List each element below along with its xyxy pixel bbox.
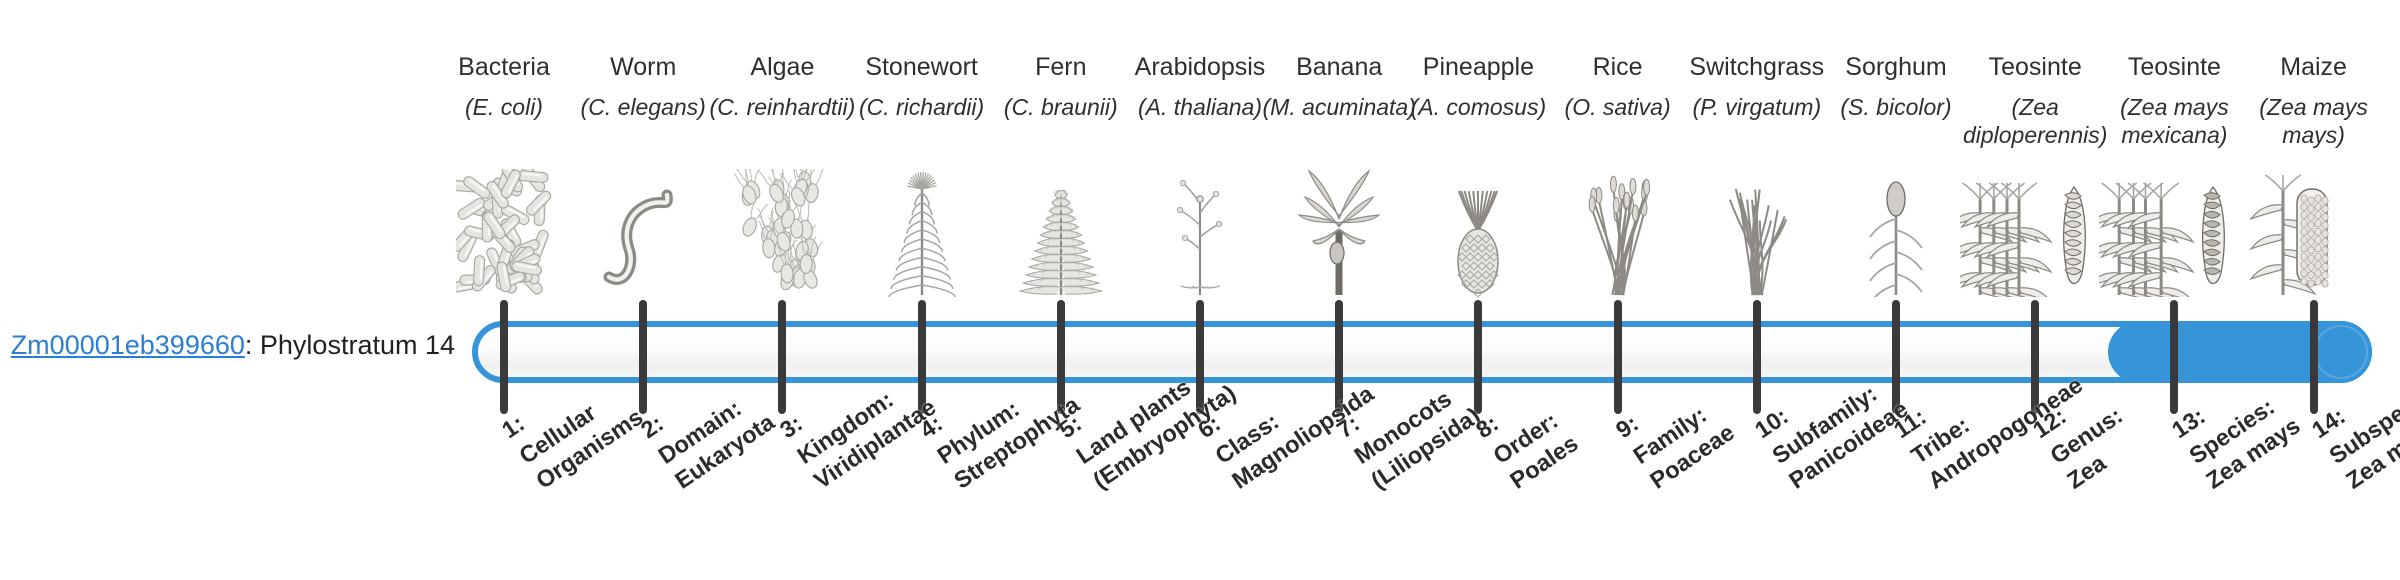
pineapple-icon	[1430, 162, 1526, 297]
stratum-tick-14[interactable]	[2310, 300, 2318, 414]
stratum-tick-1[interactable]	[500, 300, 508, 414]
gene-phylostratum-label: Zm00001eb399660: Phylostratum 14	[0, 330, 455, 361]
gene-id-link[interactable]: Zm00001eb399660	[11, 330, 245, 360]
teosinte-mex-icon	[2099, 162, 2249, 297]
species-common-name: Maize	[2226, 52, 2400, 84]
teosinte-diplo-icon	[1960, 162, 2110, 297]
switchgrass-icon	[1709, 162, 1805, 297]
gene-label-separator: :	[245, 330, 260, 360]
stratum-tick-13[interactable]	[2170, 300, 2178, 414]
sorghum-icon	[1848, 162, 1944, 297]
stratum-tick-9[interactable]	[1614, 300, 1622, 414]
stratum-label-row: 1:CellularOrganisms2:Domain:Eukaryota3:K…	[472, 420, 2372, 580]
phylostratigraphy-diagram: Bacteria(E. coli)Worm(C. elegans)Algae(C…	[0, 0, 2400, 580]
stratum-tick-2[interactable]	[639, 300, 647, 414]
species-header-14: Maize(Zea mays mays)	[2226, 52, 2400, 150]
stonewort-icon	[874, 162, 970, 297]
species-header-row: Bacteria(E. coli)Worm(C. elegans)Algae(C…	[472, 52, 2372, 162]
banana-icon	[1291, 162, 1387, 297]
bacteria-icon	[456, 162, 552, 297]
rice-icon	[1570, 162, 1666, 297]
species-latin-name: (Zea mays mays)	[2226, 93, 2400, 151]
maize-icon	[2239, 162, 2389, 297]
stratum-tick-3[interactable]	[778, 300, 786, 414]
worm-icon	[595, 162, 691, 297]
stratum-tick-10[interactable]	[1753, 300, 1761, 414]
algae-icon	[734, 162, 830, 297]
organism-illustration-row	[472, 162, 2372, 302]
fern-icon	[1013, 162, 1109, 297]
phylostratum-value: Phylostratum 14	[260, 330, 455, 360]
stratum-tick-8[interactable]	[1474, 300, 1482, 414]
arabidopsis-icon	[1152, 162, 1248, 297]
